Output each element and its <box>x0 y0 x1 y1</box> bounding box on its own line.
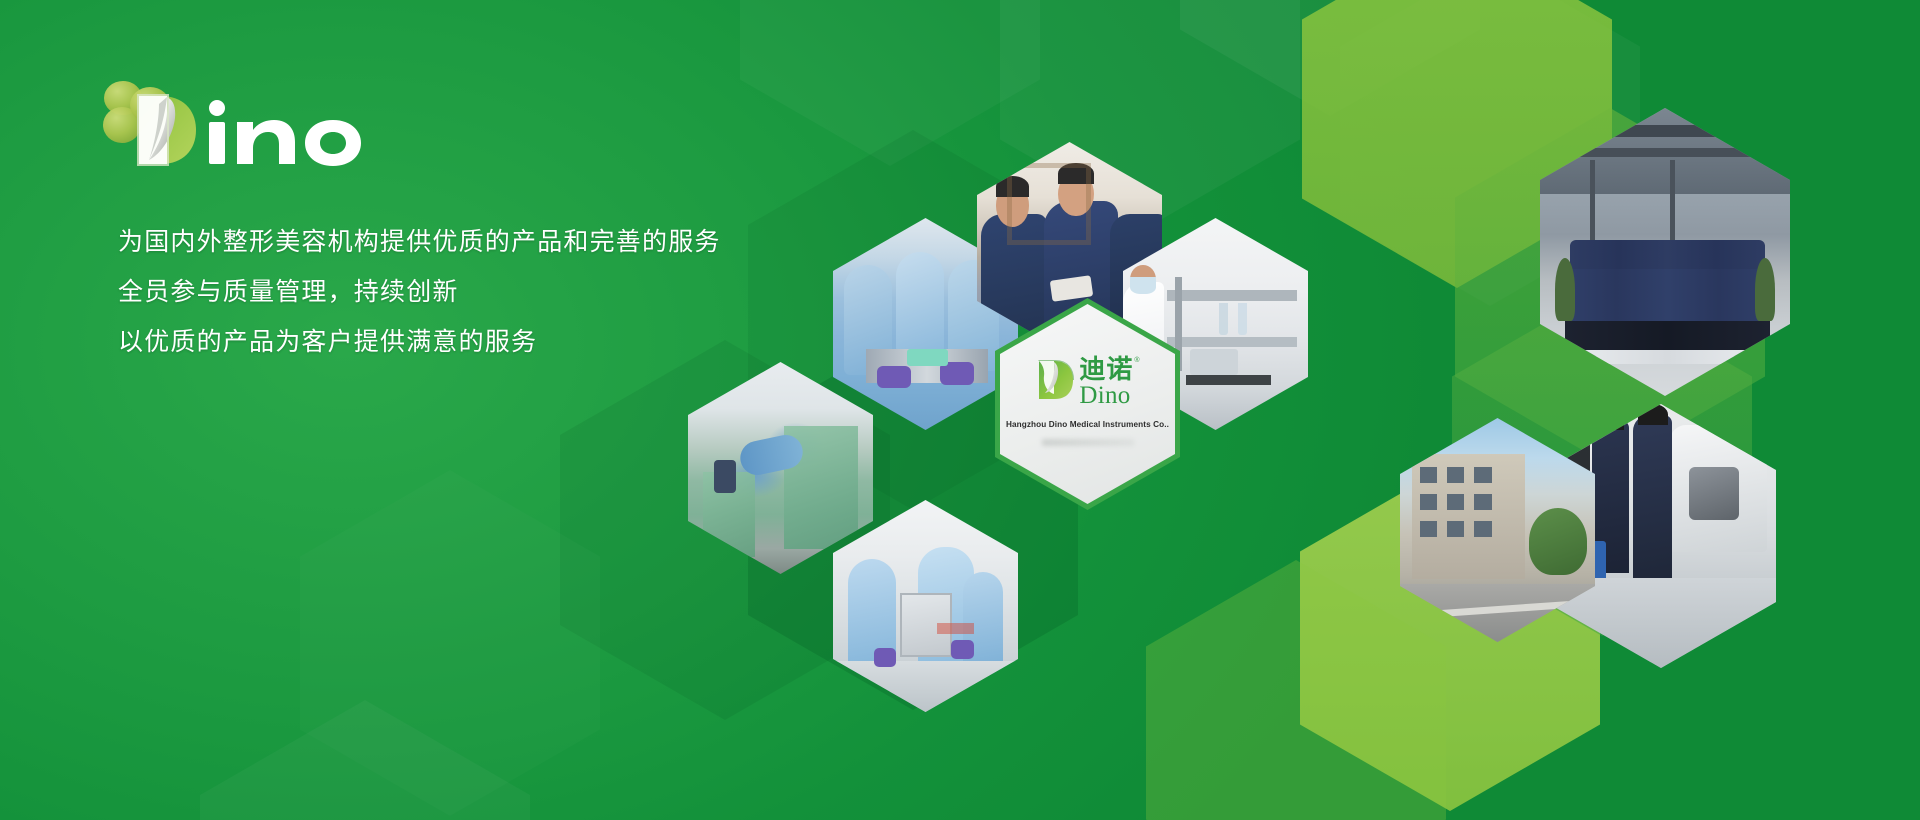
center-logo-row: 迪诺 ® Dino <box>1035 356 1139 408</box>
dino-leaf-logo-icon <box>1035 358 1075 407</box>
tagline-line-1: 为国内外整形美容机构提供优质的产品和完善的服务 <box>118 222 721 258</box>
caption-blur-placeholder <box>1042 439 1134 446</box>
tagline-line-3: 以优质的产品为客户提供满意的服务 <box>118 322 537 358</box>
center-card-caption: Hangzhou Dino Medical Instruments Co.. <box>1006 420 1169 429</box>
center-brand-hexagon[interactable]: 迪诺 ® Dino Hangzhou Dino Medical Instrume… <box>995 298 1180 510</box>
dino-wordmark-logo <box>95 72 425 182</box>
tagline-line-2: 全员参与质量管理，持续创新 <box>118 272 459 308</box>
banner-root: 迪诺 ® Dino Hangzhou Dino Medical Instrume… <box>0 0 1920 820</box>
hero-text-block: 为国内外整形美容机构提供优质的产品和完善的服务 全员参与质量管理，持续创新 以优… <box>0 0 860 820</box>
center-logo-en: Dino <box>1079 383 1130 408</box>
registered-mark: ® <box>1134 357 1139 364</box>
center-logo-cn: 迪诺 <box>1079 356 1133 382</box>
